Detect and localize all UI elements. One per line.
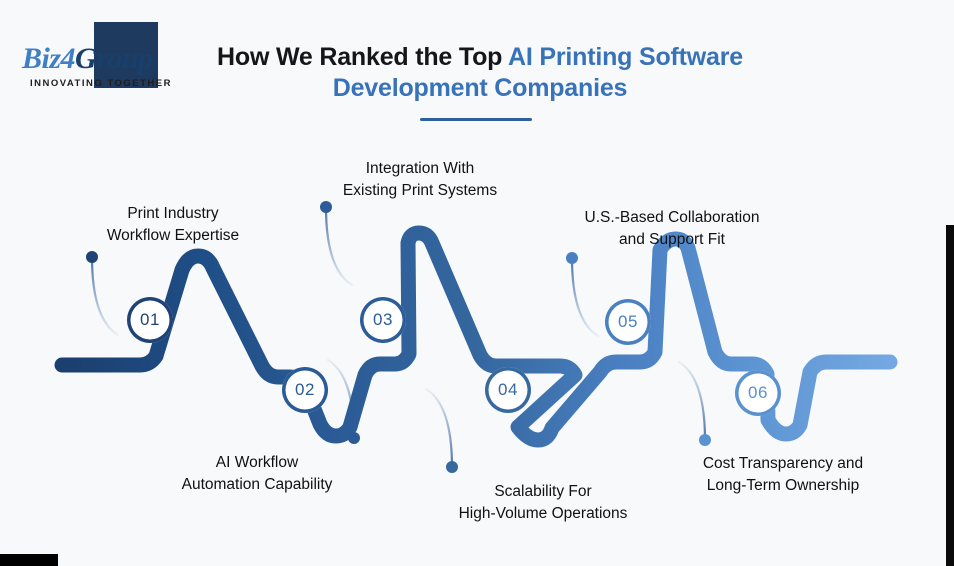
node-number-03: 03: [373, 310, 393, 330]
node-label-02: AI Workflow Automation Capability: [157, 452, 357, 496]
node-circle-05[interactable]: 05: [605, 299, 651, 345]
logo-wordmark: Biz4Group: [22, 42, 153, 76]
connector-line-04: [426, 389, 452, 467]
node-number-06: 06: [748, 383, 768, 403]
connector-dot-01: [86, 251, 98, 263]
node-circle-03[interactable]: 03: [360, 297, 406, 343]
bottom-left-edge-bar: [0, 554, 58, 566]
node-label-04: Scalability For High-Volume Operations: [433, 481, 653, 525]
node-circle-04[interactable]: 04: [485, 367, 531, 413]
connector-dot-06: [699, 434, 711, 446]
connector-line-01: [92, 257, 118, 335]
node-circle-06[interactable]: 06: [735, 370, 781, 416]
infographic-canvas: Biz4Group INNOVATING TOGETHER How We Ran…: [0, 0, 954, 566]
logo-tagline: INNOVATING TOGETHER: [30, 78, 172, 89]
connector-line-05: [572, 258, 598, 336]
connector-dot-05: [566, 252, 578, 264]
right-edge-bar: [946, 225, 954, 566]
node-label-06: Cost Transparency and Long-Term Ownershi…: [680, 453, 886, 497]
connector-line-03: [326, 207, 352, 285]
node-number-02: 02: [295, 380, 315, 400]
node-circle-01[interactable]: 01: [127, 297, 173, 343]
node-label-05: U.S.-Based Collaboration and Support Fit: [559, 207, 785, 251]
node-label-03: Integration With Existing Print Systems: [322, 158, 518, 202]
connector-dot-02: [348, 432, 360, 444]
logo-word-group: Group: [75, 42, 153, 75]
connector-line-06: [679, 362, 705, 440]
node-number-05: 05: [618, 312, 638, 332]
node-number-04: 04: [498, 380, 518, 400]
logo-word-four: 4: [61, 42, 76, 75]
connector-dot-03: [320, 201, 332, 213]
node-label-01: Print Industry Workflow Expertise: [80, 203, 266, 247]
connector-dot-04: [446, 461, 458, 473]
node-number-01: 01: [140, 310, 160, 330]
node-circle-02[interactable]: 02: [282, 367, 328, 413]
logo-word-biz: Biz: [22, 42, 61, 75]
